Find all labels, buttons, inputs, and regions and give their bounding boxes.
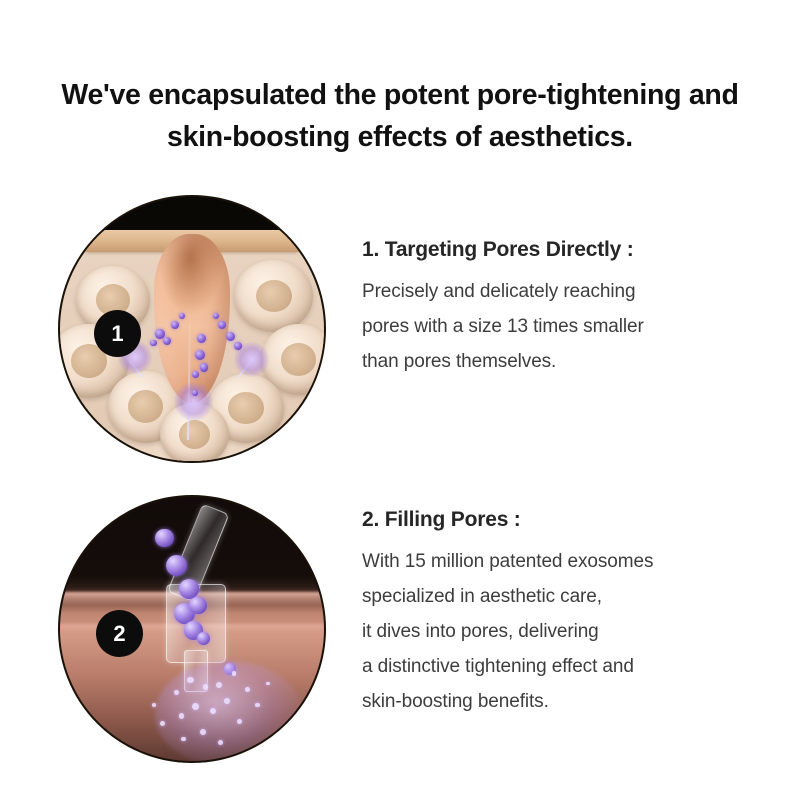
step-1-body-line-3: than pores themselves. — [362, 344, 782, 379]
step-1-body: Precisely and delicately reaching pores … — [362, 274, 782, 379]
step-1-body-line-1: Precisely and delicately reaching — [362, 274, 782, 309]
page-title-line-1: We've encapsulated the potent pore-tight… — [0, 74, 800, 116]
step-2-body-line-1: With 15 million patented exosomes — [362, 544, 782, 579]
step-2-body-line-3: it dives into pores, delivering — [362, 614, 782, 649]
step-1-copy: 1. Targeting Pores Directly : Precisely … — [362, 238, 782, 379]
step-2-media: 2 — [58, 495, 326, 763]
step-1: 1 1. Targeting Pores Directly : Precisel… — [0, 190, 800, 470]
step-2-body: With 15 million patented exosomes specia… — [362, 544, 782, 719]
step-2-body-line-5: skin-boosting benefits. — [362, 684, 782, 719]
step-2: 2 2. Filling Pores : With 15 million pat… — [0, 490, 800, 770]
step-1-body-line-2: pores with a size 13 times smaller — [362, 309, 782, 344]
step-1-media: 1 — [58, 195, 326, 463]
promotional-infographic: We've encapsulated the potent pore-tight… — [0, 0, 800, 804]
page-title: We've encapsulated the potent pore-tight… — [0, 74, 800, 158]
step-1-title: 1. Targeting Pores Directly : — [362, 238, 782, 262]
step-1-badge: 1 — [94, 310, 141, 357]
step-2-title: 2. Filling Pores : — [362, 508, 782, 532]
step-2-body-line-4: a distinctive tightening effect and — [362, 649, 782, 684]
step-2-copy: 2. Filling Pores : With 15 million paten… — [362, 508, 782, 719]
step-2-badge: 2 — [96, 610, 143, 657]
page-title-line-2: skin-boosting effects of aesthetics. — [0, 116, 800, 158]
step-2-body-line-2: specialized in aesthetic care, — [362, 579, 782, 614]
